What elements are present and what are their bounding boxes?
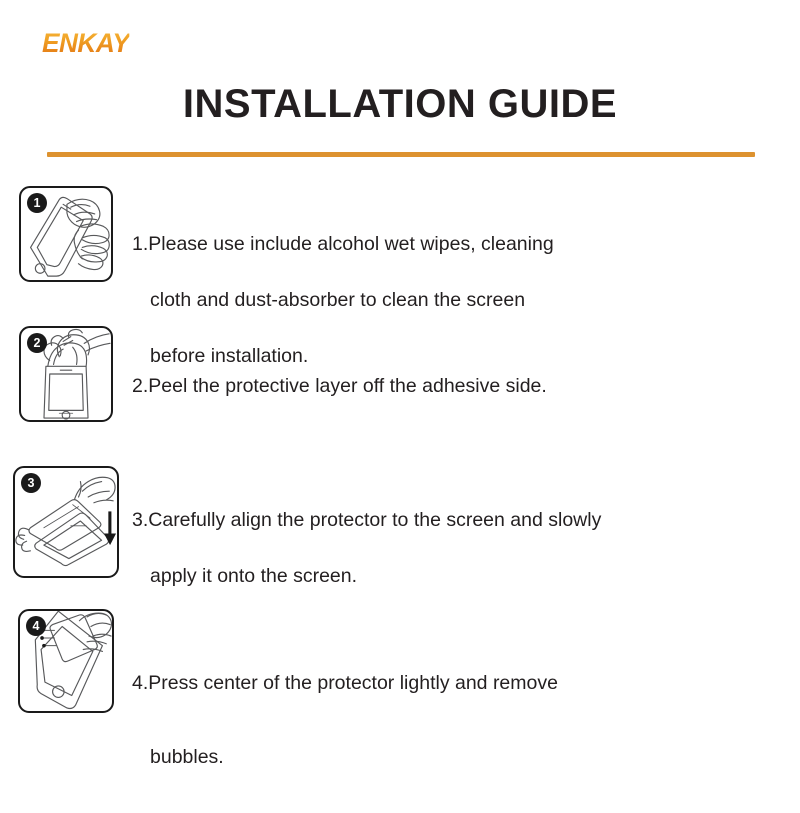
title-divider	[47, 152, 755, 157]
step-item-2: 2	[0, 326, 800, 466]
step-3-text: 3.Carefully align the protector to the s…	[132, 466, 800, 618]
step-2-illustration: 2	[19, 326, 113, 422]
step-2-text: 2.Peel the protective layer off the adhe…	[132, 326, 800, 428]
step-item-4: 4	[0, 609, 800, 749]
step-item-3: 3	[0, 466, 800, 609]
step-4-thumb-wrap: 4	[0, 609, 132, 713]
steps-list: 1	[0, 186, 800, 749]
step-item-1: 1	[0, 186, 800, 326]
step-1-line-1: 1.Please use include alcohol wet wipes, …	[132, 230, 780, 258]
step-1-badge: 1	[27, 193, 47, 213]
arrow-down-glyph	[104, 511, 116, 545]
step-2-thumb-wrap: 2	[0, 326, 132, 422]
step-4-text: 4.Press center of the protector lightly …	[132, 609, 800, 813]
step-4-illustration: 4	[18, 609, 114, 713]
step-3-badge: 3	[21, 473, 41, 493]
step-2-badge: 2	[27, 333, 47, 353]
step-3-line-1: 3.Carefully align the protector to the s…	[132, 506, 780, 534]
step-1-line-2: cloth and dust-absorber to clean the scr…	[132, 286, 780, 314]
step-2-line-1: 2.Peel the protective layer off the adhe…	[132, 372, 780, 400]
step-1-illustration: 1	[19, 186, 113, 282]
step-4-badge: 4	[26, 616, 46, 636]
step-4-line-2: bubbles.	[132, 739, 780, 776]
page-title: INSTALLATION GUIDE	[0, 82, 800, 127]
step-3-thumb-wrap: 3	[0, 466, 132, 578]
step-4-line-1: 4.Press center of the protector lightly …	[132, 665, 780, 702]
step-3-illustration: 3	[13, 466, 119, 578]
step-1-thumb-wrap: 1	[0, 186, 132, 282]
step-3-line-2: apply it onto the screen.	[132, 562, 780, 590]
brand-logo: ENKAY	[42, 28, 129, 59]
